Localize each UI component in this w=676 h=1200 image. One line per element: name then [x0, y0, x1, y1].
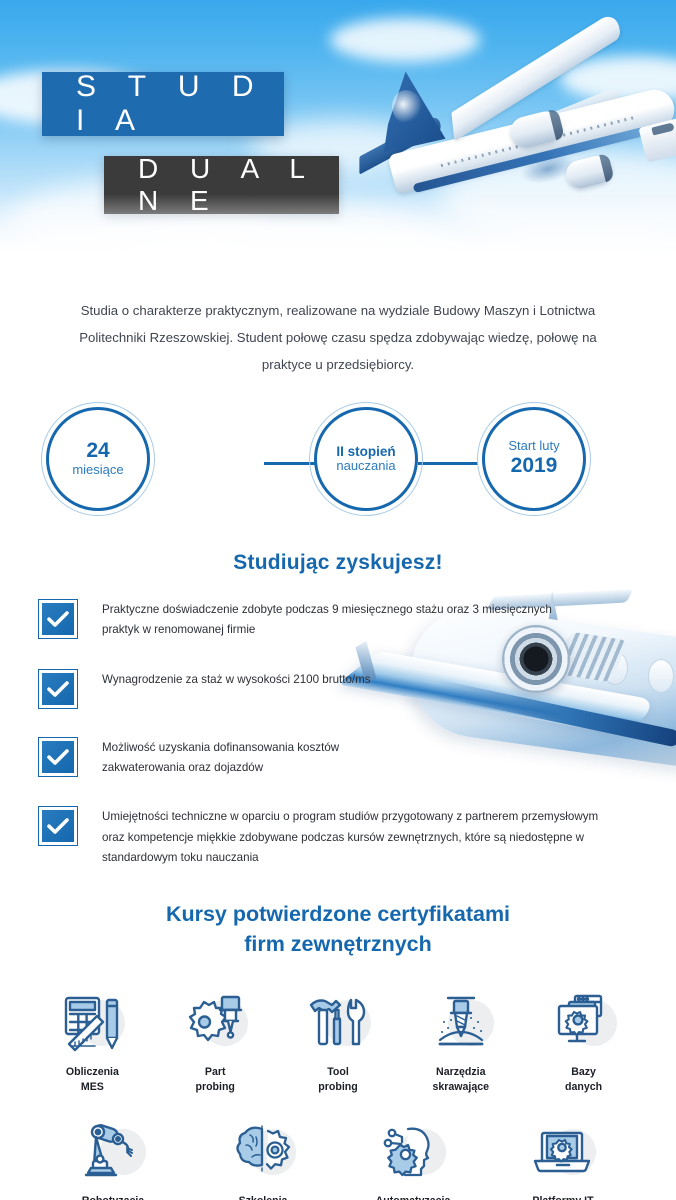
- badge-value: II stopień: [336, 444, 395, 459]
- check-icon: [47, 681, 69, 697]
- hero-bottom-fade: [0, 194, 676, 268]
- brain-gear-icon: [228, 1121, 298, 1183]
- badge-duration: 24 miesiące: [46, 407, 150, 511]
- course-item-obliczenia-mes: Obliczenia MES: [46, 992, 139, 1095]
- badge-caption: Start luty: [508, 439, 559, 454]
- list-item-text: Praktyczne doświadczenie zdobyte podczas…: [102, 600, 572, 641]
- badge-degree-level: II stopień nauczania: [314, 407, 418, 511]
- list-item: Wynagrodzenie za staż w wysokości 2100 b…: [38, 669, 676, 709]
- badge-caption: miesiące: [72, 463, 123, 478]
- course-label: Tool probing: [318, 1065, 357, 1095]
- checkbox-checked: [38, 737, 78, 777]
- check-icon: [47, 749, 69, 765]
- infographic-page: S T U D I A D U A L N E Studia o charakt…: [0, 0, 676, 1200]
- badge-caption: nauczania: [336, 459, 395, 474]
- robot-arm-icon: [78, 1121, 148, 1183]
- title-line-1: S T U D I A: [76, 70, 284, 138]
- course-label: Obliczenia MES: [66, 1065, 119, 1095]
- list-item-text: Możliwość uzyskania dofinansowania koszt…: [102, 738, 362, 779]
- course-item-robotyzacja: Robotyzacja: [65, 1121, 161, 1200]
- list-item: Możliwość uzyskania dofinansowania koszt…: [38, 737, 676, 779]
- checkbox-checked: [38, 669, 78, 709]
- check-icon: [47, 611, 69, 627]
- intro-paragraph: Studia o charakterze praktycznym, realiz…: [68, 298, 608, 379]
- badge-value: 2019: [511, 454, 558, 478]
- course-label: Narzędzia skrawające: [433, 1065, 490, 1095]
- course-item-szkolenia-miekkie: Szkolenia miękkie: [215, 1121, 311, 1200]
- hero-banner: S T U D I A D U A L N E: [0, 0, 676, 268]
- badge-start-date: Start luty 2019: [482, 407, 586, 511]
- connector-line-right: [418, 462, 478, 465]
- course-icon-row-1: Obliczenia MES: [0, 992, 676, 1095]
- list-item: Umiejętności techniczne w oparciu o prog…: [38, 806, 676, 868]
- check-icon: [47, 818, 69, 834]
- course-item-part-probing: Part probing: [169, 992, 262, 1095]
- courses-heading: Kursy potwierdzone certyfikatami firm ze…: [0, 899, 676, 960]
- course-label: Bazy danych: [565, 1065, 602, 1095]
- courses-heading-line-2: firm zewnętrznych: [0, 929, 676, 960]
- courses-heading-line-1: Kursy potwierdzone certyfikatami: [0, 899, 676, 930]
- title-banner-studia: S T U D I A: [42, 72, 284, 136]
- course-label: Platformy IT: [532, 1194, 593, 1200]
- course-label: Part probing: [195, 1065, 234, 1095]
- list-item-text: Wynagrodzenie za staż w wysokości 2100 b…: [102, 670, 371, 690]
- course-label: Szkolenia miękkie: [239, 1194, 288, 1200]
- course-item-tool-probing: Tool probing: [292, 992, 385, 1095]
- head-gear-circuit-icon: [378, 1121, 448, 1183]
- benefits-section: Studiując zyskujesz! Praktyczne doświadc…: [0, 551, 676, 869]
- badge-value: 24: [86, 439, 109, 463]
- calculator-ruler-pencil-icon: [57, 992, 127, 1054]
- course-label: Robotyzacja: [82, 1194, 144, 1200]
- benefits-list: Praktyczne doświadczenie zdobyte podczas…: [0, 599, 676, 869]
- drill-bit-icon: [426, 992, 496, 1054]
- checkbox-checked: [38, 806, 78, 846]
- list-item-text: Umiejętności techniczne w oparciu o prog…: [102, 807, 607, 868]
- gear-probe-icon: [180, 992, 250, 1054]
- course-icon-row-2: Robotyzacja: [0, 1121, 676, 1200]
- course-item-narzedzia-skrawajace: Narzędzia skrawające: [414, 992, 507, 1095]
- course-item-automatyzacja: Automatyzacja: [365, 1121, 461, 1200]
- hammer-screwdriver-wrench-icon: [303, 992, 373, 1054]
- laptop-gear-icon: [528, 1121, 598, 1183]
- course-item-platformy-it: Platformy IT: [515, 1121, 611, 1200]
- course-label: Automatyzacja: [376, 1194, 451, 1200]
- list-item: Praktyczne doświadczenie zdobyte podczas…: [38, 599, 676, 641]
- course-item-bazy-danych: Bazy danych: [537, 992, 630, 1095]
- badge-row: 24 miesiące II stopień nauczania Start l…: [28, 407, 648, 517]
- checkbox-checked: [38, 599, 78, 639]
- monitor-gear-database-icon: [549, 992, 619, 1054]
